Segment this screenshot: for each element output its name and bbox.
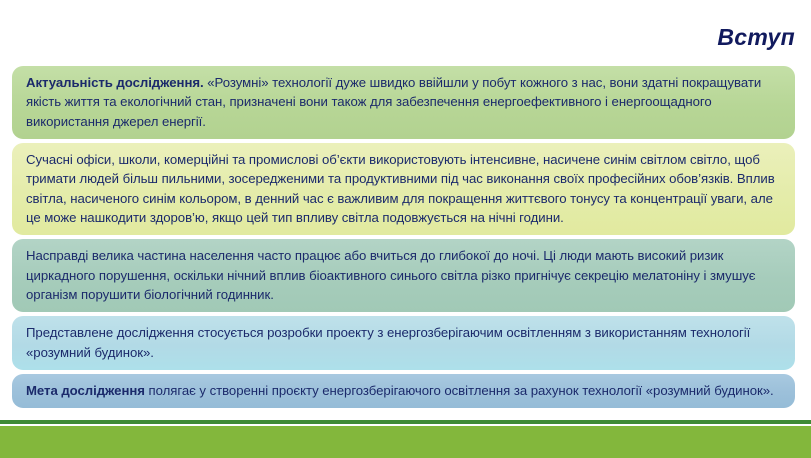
text-block-body: Сучасні офіси, школи, комерційні та пром… (26, 152, 775, 225)
text-block-body: полягає у створенні проєкту енергозберіг… (145, 383, 774, 398)
text-block-body: Насправді велика частина населення часто… (26, 248, 755, 302)
text-block-paragraph: Сучасні офіси, школи, комерційні та пром… (26, 150, 781, 227)
content-block-list: Актуальність дослідження. «Розумні» техн… (12, 66, 795, 412)
text-block-offices: Сучасні офіси, школи, комерційні та пром… (12, 143, 795, 235)
bottom-green-band (0, 426, 811, 458)
text-block-paragraph: Мета дослідження полягає у створенні про… (26, 381, 781, 400)
text-block-body: Представлене дослідження стосується розр… (26, 325, 750, 359)
page-title: Вступ (717, 24, 795, 51)
text-block-paragraph: Насправді велика частина населення часто… (26, 246, 781, 304)
text-block-paragraph: Актуальність дослідження. «Розумні» техн… (26, 73, 781, 131)
text-block-paragraph: Представлене дослідження стосується розр… (26, 323, 781, 362)
text-block-goal: Мета дослідження полягає у створенні про… (12, 374, 795, 408)
bottom-decoration-bar (0, 420, 811, 458)
text-block-project: Представлене дослідження стосується розр… (12, 316, 795, 370)
slide-canvas: Вступ Актуальність дослідження. «Розумні… (0, 0, 811, 458)
text-block-circadian: Насправді велика частина населення часто… (12, 239, 795, 312)
text-block-lead-in: Мета дослідження (26, 383, 145, 398)
text-block-relevance: Актуальність дослідження. «Розумні» техн… (12, 66, 795, 139)
text-block-lead-in: Актуальність дослідження. (26, 75, 204, 90)
